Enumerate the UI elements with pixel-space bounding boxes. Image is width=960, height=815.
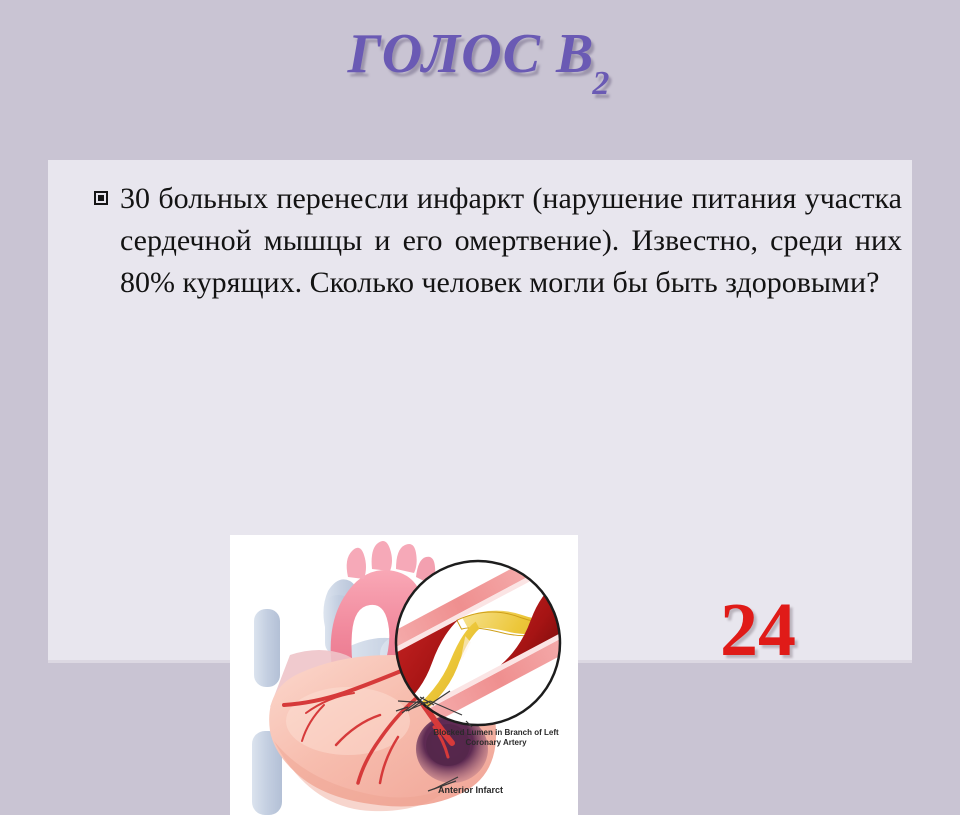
square-bullet-icon (94, 191, 108, 205)
page-title: ГОЛОС В2 (0, 22, 960, 86)
page-title-subscript: 2 (592, 65, 610, 102)
content-panel: 30 больных перенесли инфаркт (нарушение … (48, 160, 912, 660)
heart-diagram-svg (230, 535, 578, 815)
answer-value: 24 (720, 592, 796, 668)
problem-statement: 30 больных перенесли инфаркт (нарушение … (120, 178, 902, 304)
page-title-text: ГОЛОС В (348, 23, 595, 85)
text-block: 30 больных перенесли инфаркт (нарушение … (72, 178, 902, 304)
heart-infarction-image: Blocked Lumen in Branch of Left Coronary… (230, 535, 578, 815)
bullet-list-item: 30 больных перенесли инфаркт (нарушение … (72, 178, 902, 304)
caption-anterior-infarct: Anterior Infarct (438, 785, 503, 796)
caption-blocked-lumen: Blocked Lumen in Branch of Left Coronary… (426, 728, 566, 748)
